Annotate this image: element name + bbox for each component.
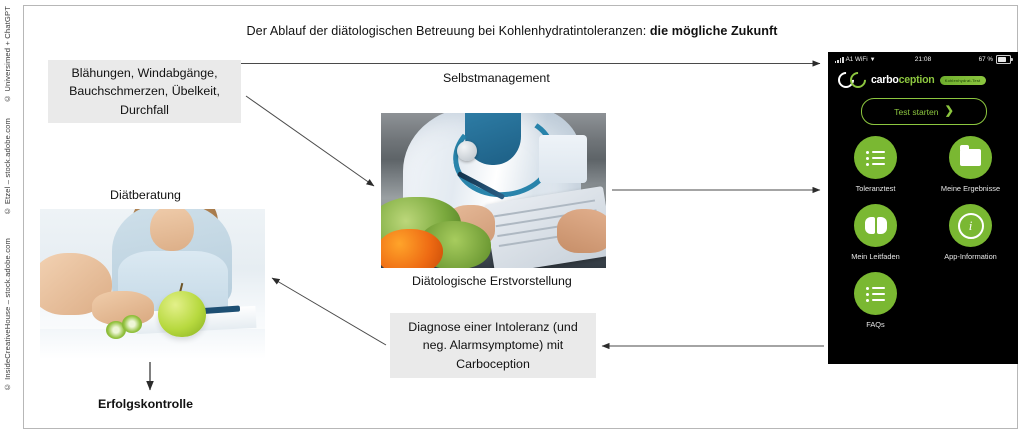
credit-universimed: © Universimed + ChatGPT [3,6,12,103]
list-icon [854,136,897,179]
diagnosis-box: Diagnose einer Intoleranz (und neg. Alar… [390,313,596,378]
app-tile-app-information[interactable]: i App-Information [923,204,1018,261]
start-test-label: Test starten [894,107,938,117]
app-logo: carboception Kohlenhydrat-Test [838,72,986,88]
app-tile-toleranztest[interactable]: Toleranztest [828,136,923,193]
figure-title: Der Ablauf der diätologischen Betreuung … [0,24,1024,38]
app-wordmark: carboception [871,74,935,86]
diagram-canvas: © Universimed + ChatGPT © Etzel – stock.… [0,0,1024,435]
carboception-app-mockup: A1 WiFi ▼ 21:08 67 % carboception Kohlen… [828,52,1018,364]
photo-diaetberatung [40,209,265,359]
label-selbstmanagement: Selbstmanagement [443,71,550,85]
carboception-mark-icon [838,72,866,88]
list-icon [854,272,897,315]
start-test-button[interactable]: Test starten ❯ [861,98,987,125]
app-tile-label: Mein Leitfaden [851,252,899,261]
figure-title-emphasis: die mögliche Zukunft [650,24,778,38]
photo-diaetologische-erstvorstellung [381,113,606,268]
folder-icon [949,136,992,179]
label-diaetberatung: Diätberatung [110,188,181,202]
book-icon [854,204,897,247]
app-tile-faqs[interactable]: FAQs [828,272,923,329]
app-tile-label: Toleranztest [856,184,896,193]
figure-title-prefix: Der Ablauf der diätologischen Betreuung … [247,24,650,38]
wordmark-green: ception [899,74,935,86]
app-tile-mein-leitfaden[interactable]: Mein Leitfaden [828,204,923,261]
app-tile-meine-ergebnisse[interactable]: Meine Ergebnisse [923,136,1018,193]
label-erfolgskontrolle: Erfolgskontrolle [98,397,193,411]
app-tile-label: Meine Ergebnisse [941,184,1000,193]
logo-pill-text: Kohlenhydrat-Test [945,78,981,83]
logo-pill-badge: Kohlenhydrat-Test [940,76,986,85]
wordmark-dark: carbo [871,74,899,86]
credit-etzel: © Etzel – stock.adobe.com [3,118,12,216]
app-tile-grid: Toleranztest Meine Ergebnisse Mein Leitf… [828,136,1018,329]
info-icon: i [949,204,992,247]
app-tile-label: FAQs [866,320,884,329]
chevron-right-icon: ❯ [945,106,954,117]
phone-clock: 21:08 [828,56,1018,63]
credit-insidecreativehouse: © InsideCreativeHouse – stock.adobe.com [3,238,12,391]
symptoms-box: Blähungen, Windabgänge, Bauchschmerzen, … [48,60,241,123]
label-diaetologische-erstvorstellung: Diätologische Erstvorstellung [412,274,572,288]
battery-icon [996,55,1011,64]
app-tile-label: App-Information [944,252,997,261]
phone-status-bar: A1 WiFi ▼ 21:08 67 % [828,52,1018,67]
